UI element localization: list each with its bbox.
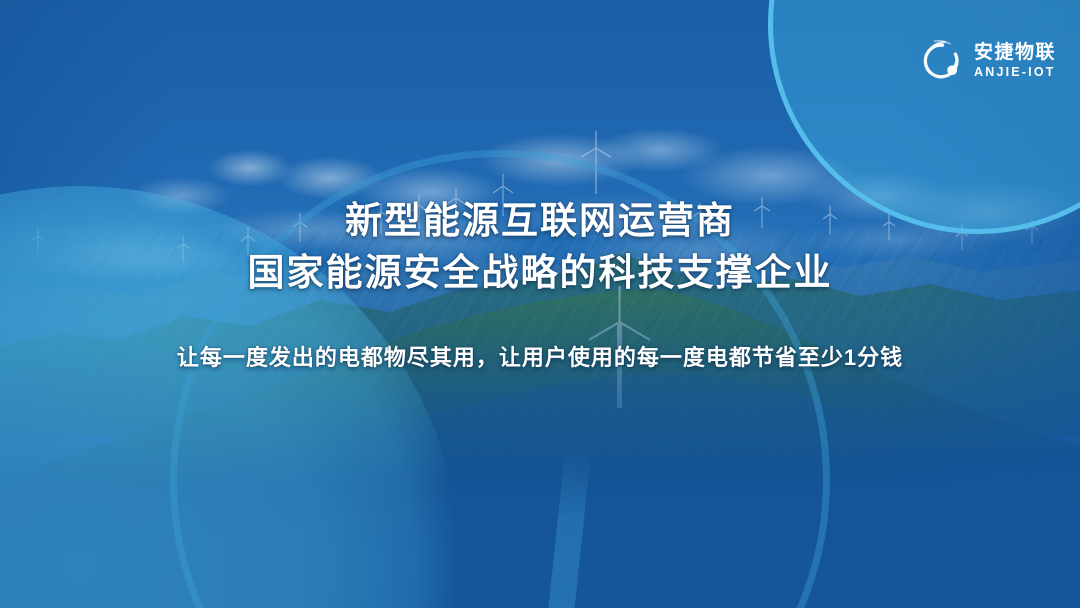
poster-banner: 安捷物联 ANJIE-IOT 新型能源互联网运营商 国家能源安全战略的科技支撑企… [0,0,1080,608]
logo-name-en: ANJIE-IOT [974,66,1056,79]
logo-wordmark: 安捷物联 ANJIE-IOT [974,43,1056,79]
anjie-swirl-circle-icon [919,38,965,84]
brand-logo[interactable]: 安捷物联 ANJIE-IOT [919,38,1056,84]
logo-name-cn: 安捷物联 [974,43,1056,62]
